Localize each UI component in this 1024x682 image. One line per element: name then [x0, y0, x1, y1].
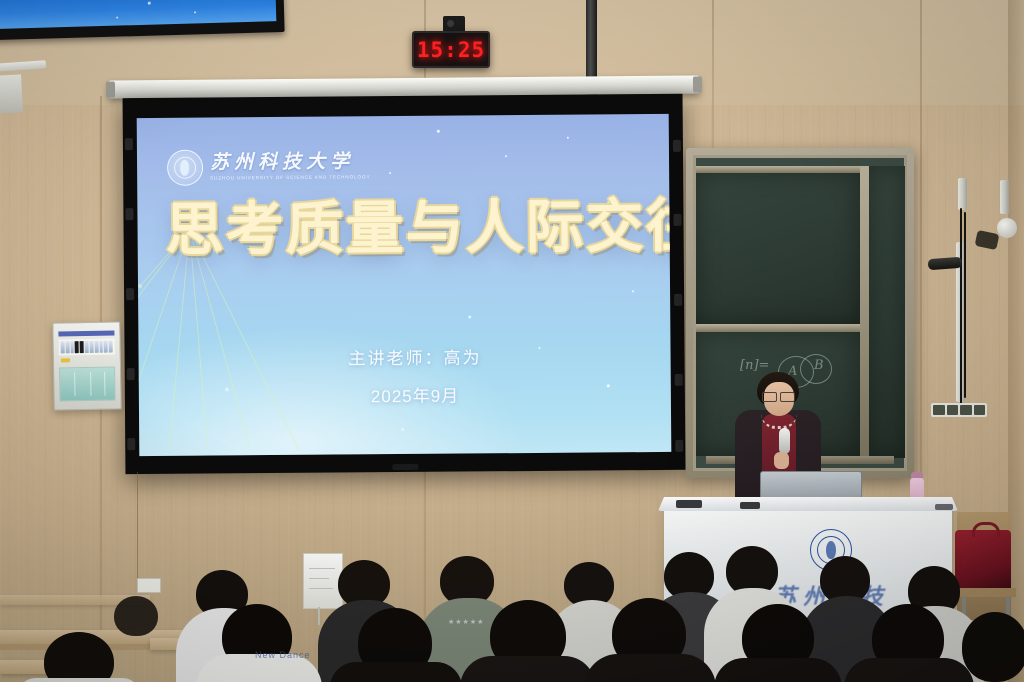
photo-vignette — [0, 0, 1024, 682]
lecture-hall-photo: 15:25 — [0, 0, 1024, 682]
